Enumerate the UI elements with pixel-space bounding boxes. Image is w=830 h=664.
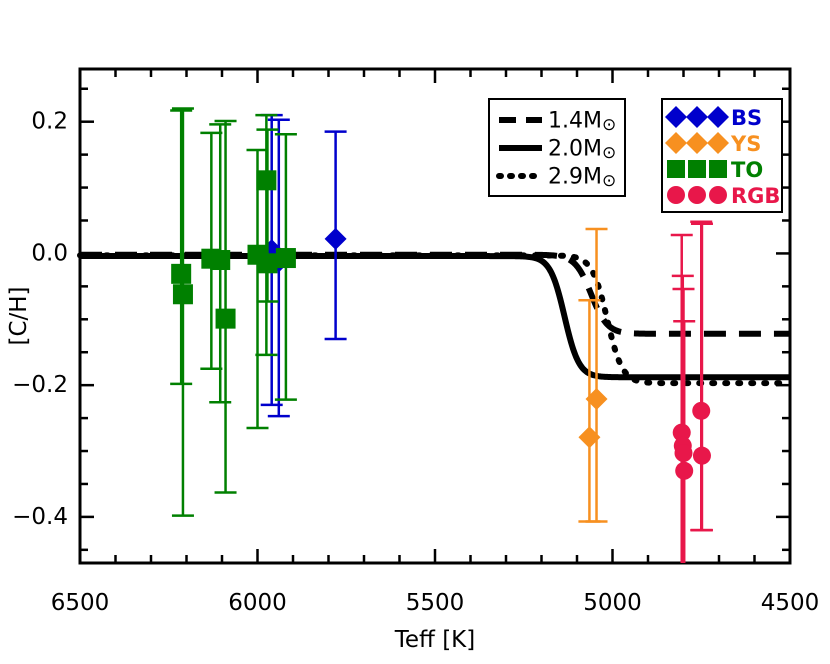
series-RGB xyxy=(671,222,713,563)
x-tick-label: 6000 xyxy=(228,590,287,616)
symbol-legend-label-RGB: RGB xyxy=(731,184,780,208)
x-tick-label: 5500 xyxy=(406,590,465,616)
symbol-legend-label-BS: BS xyxy=(731,106,762,130)
x-axis-title: Teff [K] xyxy=(394,627,475,653)
marker-square xyxy=(688,160,706,178)
chart-svg: 650060005500500045000.20.0−0.2−0.4 Teff … xyxy=(0,0,830,664)
marker-square xyxy=(173,284,193,304)
marker-circle xyxy=(693,447,711,465)
x-tick-label: 6500 xyxy=(51,590,110,616)
figure-canvas: 650060005500500045000.20.0−0.2−0.4 Teff … xyxy=(0,0,830,664)
marker-square xyxy=(256,170,276,190)
y-axis-title: [C/H] xyxy=(6,286,32,345)
symbol-legend-label-TO: TO xyxy=(731,158,763,182)
y-tick-label: −0.4 xyxy=(12,504,68,530)
y-tick-label: 0.0 xyxy=(31,240,68,266)
x-tick-label: 5000 xyxy=(583,590,642,616)
marker-square xyxy=(216,309,236,329)
symbol-legend: BSYSTORGB xyxy=(662,99,782,212)
marker-circle xyxy=(688,186,706,204)
y-tick-label: −0.2 xyxy=(12,372,68,398)
y-tick-label: 0.2 xyxy=(31,109,68,135)
marker-circle xyxy=(675,462,693,480)
marker-circle xyxy=(692,402,710,420)
x-tick-label: 4500 xyxy=(761,590,820,616)
marker-circle xyxy=(675,444,693,462)
line-style-legend: 1.4M⊙2.0M⊙2.9M⊙ xyxy=(489,99,625,196)
marker-square xyxy=(171,264,191,284)
marker-circle xyxy=(667,186,685,204)
marker-diamond xyxy=(325,228,347,250)
marker-square xyxy=(276,248,296,268)
marker-circle xyxy=(709,186,727,204)
marker-square xyxy=(257,253,277,273)
data-series-group xyxy=(170,109,713,563)
marker-square xyxy=(667,160,685,178)
marker-square xyxy=(709,160,727,178)
marker-square xyxy=(210,250,230,270)
symbol-legend-label-YS: YS xyxy=(730,132,761,156)
